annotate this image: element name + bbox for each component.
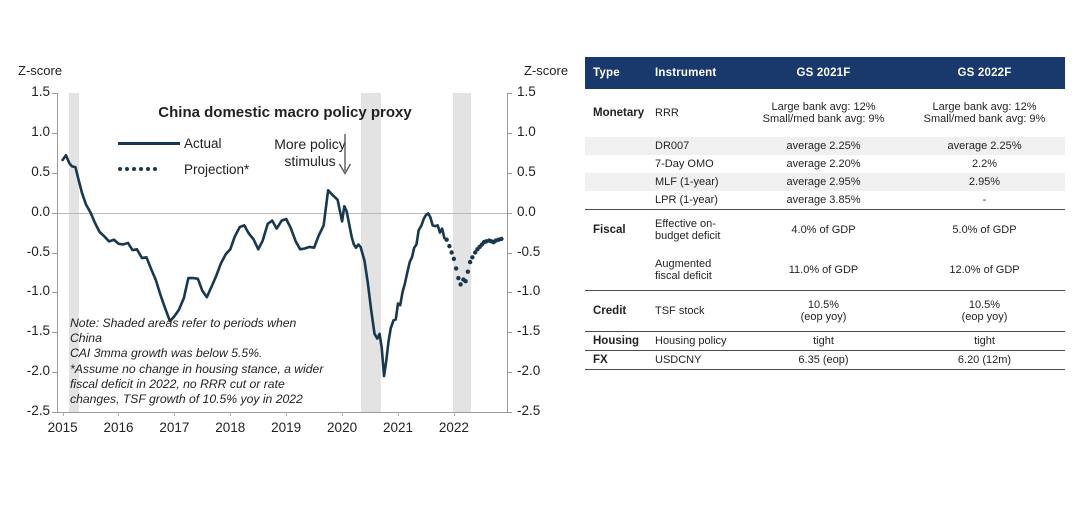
cell-type bbox=[585, 191, 647, 210]
y-tick-right-8: -2.5 bbox=[517, 403, 557, 418]
figure-root: Z-score Z-score 1.51.51.01.00.50.50.00.0… bbox=[0, 0, 1080, 512]
col-header-type: Type bbox=[585, 57, 647, 89]
cell-value-line2: (eop yoy) bbox=[745, 311, 902, 323]
series-dot-projection-23 bbox=[499, 237, 503, 241]
cell-type: Fiscal bbox=[585, 210, 647, 251]
cell-instrument: Effective on-budget deficit bbox=[647, 210, 743, 251]
cell-instrument: LPR (1-year) bbox=[647, 191, 743, 210]
x-tick-2016: 2016 bbox=[88, 420, 148, 435]
table-row: FiscalEffective on-budget deficit4.0% of… bbox=[585, 210, 1065, 251]
cell-instrument-line1: Effective on- bbox=[655, 218, 741, 230]
y-tick-left-5: -1.0 bbox=[10, 283, 50, 298]
cell-gs-2021f: 4.0% of GDP bbox=[743, 210, 904, 251]
chart-legend: Actual Projection* bbox=[118, 130, 249, 182]
series-dot-projection-2 bbox=[449, 250, 453, 254]
table-row: MLF (1-year)average 2.95%2.95% bbox=[585, 173, 1065, 191]
series-dot-projection-4 bbox=[454, 266, 458, 270]
policy-table-panel: Type Instrument GS 2021F GS 2022F Moneta… bbox=[585, 57, 1065, 370]
y-tick-left-0: 1.5 bbox=[10, 84, 50, 99]
cell-gs-2022f: 2.95% bbox=[904, 173, 1065, 191]
y-tick-left-2: 0.5 bbox=[10, 164, 50, 179]
x-tick-mark-2016 bbox=[118, 412, 119, 416]
series-dot-projection-9 bbox=[466, 269, 470, 273]
table-row: DR007average 2.25%average 2.25% bbox=[585, 137, 1065, 155]
legend-item-actual: Actual bbox=[118, 130, 249, 156]
chart-note-line-0: Note: Shaded areas refer to periods when… bbox=[70, 316, 330, 346]
legend-label-actual: Actual bbox=[184, 136, 222, 151]
col-header-gs-2021f: GS 2021F bbox=[743, 57, 904, 89]
cell-gs-2021f: 10.5%(eop yoy) bbox=[743, 291, 904, 332]
series-dot-projection-0 bbox=[444, 238, 448, 242]
series-dot-projection-6 bbox=[458, 282, 462, 286]
series-dot-projection-1 bbox=[447, 244, 451, 248]
y-tick-mark-1-1 bbox=[507, 133, 512, 134]
chart-title: China domestic macro policy proxy bbox=[120, 104, 450, 121]
x-tick-2020: 2020 bbox=[312, 420, 372, 435]
legend-solid-line-icon bbox=[118, 142, 180, 145]
cell-gs-2021f: tight bbox=[743, 332, 904, 351]
series-dot-projection-8 bbox=[463, 279, 467, 283]
cell-instrument: 7-Day OMO bbox=[647, 155, 743, 173]
x-tick-2017: 2017 bbox=[144, 420, 204, 435]
down-arrow-icon bbox=[336, 134, 354, 183]
cell-type bbox=[585, 250, 647, 291]
x-tick-mark-2022 bbox=[454, 412, 455, 416]
chart-panel: Z-score Z-score 1.51.51.01.00.50.50.00.0… bbox=[0, 0, 580, 470]
cell-value-line1: 10.5% bbox=[745, 299, 902, 311]
policy-forecast-table: Type Instrument GS 2021F GS 2022F Moneta… bbox=[585, 57, 1065, 370]
cell-value-line1: Large bank avg: 12% bbox=[745, 101, 902, 113]
table-row: CreditTSF stock10.5%(eop yoy)10.5%(eop y… bbox=[585, 291, 1065, 332]
x-tick-2019: 2019 bbox=[256, 420, 316, 435]
table-row: LPR (1-year)average 3.85%- bbox=[585, 191, 1065, 210]
cell-gs-2022f: 5.0% of GDP bbox=[904, 210, 1065, 251]
cell-gs-2022f: Large bank avg: 12%Small/med bank avg: 9… bbox=[904, 89, 1065, 137]
table-row: MonetaryRRRLarge bank avg: 12%Small/med … bbox=[585, 89, 1065, 137]
table-body: MonetaryRRRLarge bank avg: 12%Small/med … bbox=[585, 89, 1065, 370]
y-axis-label-right: Z-score bbox=[524, 63, 568, 78]
cell-gs-2021f: average 3.85% bbox=[743, 191, 904, 210]
chart-note-line-3: fiscal deficit in 2022, no RRR cut or ra… bbox=[70, 377, 330, 392]
cell-type bbox=[585, 173, 647, 191]
y-tick-mark-8-1 bbox=[507, 412, 512, 413]
cell-gs-2022f: - bbox=[904, 191, 1065, 210]
cell-instrument-line2: budget deficit bbox=[655, 230, 741, 242]
y-tick-mark-2-1 bbox=[507, 173, 512, 174]
cell-type bbox=[585, 155, 647, 173]
cell-instrument: Augmentedfiscal deficit bbox=[647, 250, 743, 291]
y-tick-right-0: 1.5 bbox=[517, 84, 557, 99]
cell-value-line2: Small/med bank avg: 9% bbox=[906, 113, 1063, 125]
x-tick-mark-2018 bbox=[230, 412, 231, 416]
y-tick-right-2: 0.5 bbox=[517, 164, 557, 179]
cell-instrument: USDCNY bbox=[647, 351, 743, 370]
y-axis-label-left: Z-score bbox=[18, 63, 62, 78]
x-tick-mark-2015 bbox=[63, 412, 64, 416]
y-tick-left-3: 0.0 bbox=[10, 204, 50, 219]
cell-type: Housing bbox=[585, 332, 647, 351]
y-tick-mark-6-1 bbox=[507, 332, 512, 333]
cell-instrument: TSF stock bbox=[647, 291, 743, 332]
cell-gs-2022f: 2.2% bbox=[904, 155, 1065, 173]
chart-note-line-1: CAI 3mma growth was below 5.5%. bbox=[70, 346, 330, 361]
x-tick-2021: 2021 bbox=[368, 420, 428, 435]
table-row: Augmentedfiscal deficit11.0% of GDP12.0%… bbox=[585, 250, 1065, 291]
table-row: FXUSDCNY6.35 (eop)6.20 (12m) bbox=[585, 351, 1065, 370]
series-dot-projection-3 bbox=[452, 257, 456, 261]
chart-note: Note: Shaded areas refer to periods when… bbox=[70, 316, 330, 407]
axis-line-2 bbox=[57, 412, 507, 413]
chart-note-line-2: *Assume no change in housing stance, a w… bbox=[70, 362, 330, 377]
cell-instrument-line1: Augmented bbox=[655, 258, 741, 270]
cell-gs-2021f: average 2.95% bbox=[743, 173, 904, 191]
col-header-gs-2022f: GS 2022F bbox=[904, 57, 1065, 89]
table-row: 7-Day OMOaverage 2.20%2.2% bbox=[585, 155, 1065, 173]
cell-value-line1: Large bank avg: 12% bbox=[906, 101, 1063, 113]
cell-gs-2021f: average 2.20% bbox=[743, 155, 904, 173]
x-tick-mark-2017 bbox=[174, 412, 175, 416]
y-tick-left-6: -1.5 bbox=[10, 323, 50, 338]
cell-value-line1: 10.5% bbox=[906, 299, 1063, 311]
y-tick-mark-7-1 bbox=[507, 372, 512, 373]
y-tick-left-8: -2.5 bbox=[10, 403, 50, 418]
cell-gs-2022f: 12.0% of GDP bbox=[904, 250, 1065, 291]
series-dot-projection-10 bbox=[468, 260, 472, 264]
x-tick-2015: 2015 bbox=[33, 420, 93, 435]
x-tick-mark-2021 bbox=[398, 412, 399, 416]
legend-item-projection: Projection* bbox=[118, 156, 249, 182]
y-tick-mark-3-1 bbox=[507, 213, 512, 214]
cell-gs-2021f: 6.35 (eop) bbox=[743, 351, 904, 370]
cell-type bbox=[585, 137, 647, 155]
cell-gs-2021f: Large bank avg: 12%Small/med bank avg: 9… bbox=[743, 89, 904, 137]
cell-value-line2: (eop yoy) bbox=[906, 311, 1063, 323]
y-tick-left-7: -2.0 bbox=[10, 363, 50, 378]
y-tick-mark-8-0 bbox=[52, 412, 57, 413]
x-tick-2022: 2022 bbox=[424, 420, 484, 435]
y-tick-right-1: 1.0 bbox=[517, 124, 557, 139]
y-tick-right-6: -1.5 bbox=[517, 323, 557, 338]
legend-dotted-line-icon bbox=[118, 167, 180, 171]
y-tick-mark-4-1 bbox=[507, 253, 512, 254]
cell-type: Monetary bbox=[585, 89, 647, 137]
cell-gs-2022f: 6.20 (12m) bbox=[904, 351, 1065, 370]
cell-type: Credit bbox=[585, 291, 647, 332]
y-tick-right-3: 0.0 bbox=[517, 204, 557, 219]
series-dot-projection-11 bbox=[470, 255, 474, 259]
cell-instrument: DR007 bbox=[647, 137, 743, 155]
chart-note-line-4: changes, TSF growth of 10.5% yoy in 2022 bbox=[70, 392, 330, 407]
cell-type: FX bbox=[585, 351, 647, 370]
y-tick-right-7: -2.0 bbox=[517, 363, 557, 378]
cell-instrument: RRR bbox=[647, 89, 743, 137]
cell-gs-2022f: 10.5%(eop yoy) bbox=[904, 291, 1065, 332]
cell-gs-2021f: average 2.25% bbox=[743, 137, 904, 155]
y-tick-right-4: -0.5 bbox=[517, 244, 557, 259]
cell-value-line2: Small/med bank avg: 9% bbox=[745, 113, 902, 125]
cell-gs-2022f: tight bbox=[904, 332, 1065, 351]
legend-label-projection: Projection* bbox=[184, 162, 249, 177]
cell-gs-2021f: 11.0% of GDP bbox=[743, 250, 904, 291]
y-tick-left-4: -0.5 bbox=[10, 244, 50, 259]
x-tick-2018: 2018 bbox=[200, 420, 260, 435]
x-tick-mark-2019 bbox=[286, 412, 287, 416]
cell-instrument: MLF (1-year) bbox=[647, 173, 743, 191]
y-tick-right-5: -1.0 bbox=[517, 283, 557, 298]
cell-gs-2022f: average 2.25% bbox=[904, 137, 1065, 155]
x-tick-mark-2020 bbox=[342, 412, 343, 416]
col-header-instrument: Instrument bbox=[647, 57, 743, 89]
cell-instrument-line2: fiscal deficit bbox=[655, 270, 741, 282]
cell-instrument: Housing policy bbox=[647, 332, 743, 351]
series-dot-projection-5 bbox=[456, 276, 460, 280]
table-header-row: Type Instrument GS 2021F GS 2022F bbox=[585, 57, 1065, 89]
table-row: HousingHousing policytighttight bbox=[585, 332, 1065, 351]
y-tick-mark-0-1 bbox=[507, 93, 512, 94]
y-tick-left-1: 1.0 bbox=[10, 124, 50, 139]
y-tick-mark-5-1 bbox=[507, 292, 512, 293]
